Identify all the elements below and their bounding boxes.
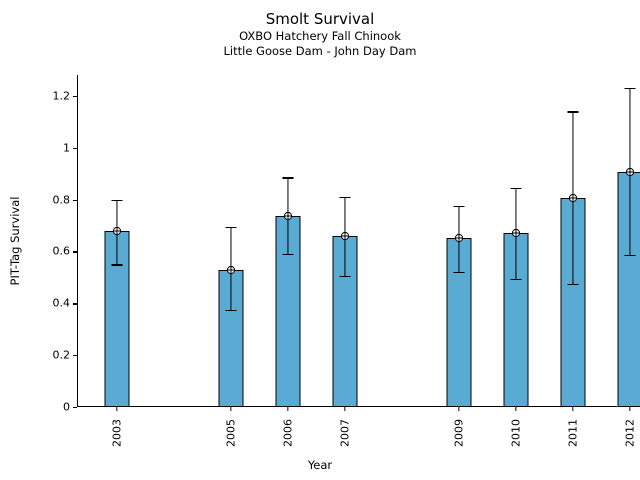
y-tick-mark (73, 148, 77, 149)
y-tick-label: 0.2 (53, 350, 71, 361)
data-point-marker-icon (113, 226, 122, 235)
data-point-marker-icon (626, 168, 635, 177)
error-bar-cap-upper (112, 200, 123, 201)
y-tick-label: 1 (63, 142, 70, 153)
data-point-marker-icon (227, 265, 236, 274)
x-tick-label: 2006 (283, 419, 294, 447)
y-tick-label: 0.6 (53, 246, 71, 257)
y-tick-label: 0.4 (53, 298, 71, 309)
chart-title: Smolt Survival (0, 10, 640, 29)
y-tick-label: 0 (63, 402, 70, 413)
x-tick-label: 2010 (511, 419, 522, 447)
chart-figure: Smolt Survival OXBO Hatchery Fall Chinoo… (0, 0, 640, 480)
plot-area: 00.20.40.60.811.2 2003200520062007200920… (77, 75, 617, 407)
y-tick-mark (73, 96, 77, 97)
chart-subtitle-line-1: OXBO Hatchery Fall Chinook (0, 29, 640, 44)
data-point-marker-icon (455, 234, 464, 243)
error-bar-cap-upper (511, 188, 522, 189)
x-tick-label: 2007 (340, 419, 351, 447)
error-bar-cap-upper (625, 88, 636, 89)
y-tick-label: 0.8 (53, 194, 71, 205)
x-tick-mark (287, 407, 288, 411)
y-axis-spine (77, 75, 78, 407)
error-bar-cap-lower (340, 276, 351, 277)
error-bar-cap-lower (454, 272, 465, 273)
y-tick-mark (73, 355, 77, 356)
x-axis-label: Year (0, 458, 640, 472)
x-tick-label: 2003 (112, 419, 123, 447)
x-tick-mark (458, 407, 459, 411)
x-tick-mark (572, 407, 573, 411)
x-tick-mark (230, 407, 231, 411)
data-point-marker-icon (569, 194, 578, 203)
data-point-marker-icon (284, 212, 293, 221)
y-tick-mark (73, 407, 77, 408)
y-tick-mark (73, 303, 77, 304)
error-bar-cap-upper (568, 111, 579, 112)
data-point-marker-icon (512, 229, 521, 238)
error-bar-cap-lower (283, 254, 294, 255)
x-tick-mark (344, 407, 345, 411)
data-point-marker-icon (341, 231, 350, 240)
error-bar-cap-upper (454, 206, 465, 207)
error-bar-cap-upper (226, 227, 237, 228)
x-tick-mark (515, 407, 516, 411)
x-tick-mark (629, 407, 630, 411)
x-tick-label: 2009 (454, 419, 465, 447)
error-bar-cap-lower (226, 310, 237, 311)
error-bar-cap-lower (625, 255, 636, 256)
error-bar-cap-upper (283, 177, 294, 178)
y-axis-label: PIT-Tag Survival (8, 197, 22, 286)
x-tick-label: 2005 (226, 419, 237, 447)
error-bar-cap-lower (112, 264, 123, 265)
error-bar-cap-lower (511, 279, 522, 280)
chart-subtitle-line-2: Little Goose Dam - John Day Dam (0, 44, 640, 59)
x-tick-mark (116, 407, 117, 411)
error-bar-cap-upper (340, 197, 351, 198)
y-tick-mark (73, 251, 77, 252)
x-tick-label: 2012 (625, 419, 636, 447)
title-block: Smolt Survival OXBO Hatchery Fall Chinoo… (0, 10, 640, 59)
x-tick-label: 2011 (568, 419, 579, 447)
error-bar-cap-lower (568, 284, 579, 285)
y-tick-label: 1.2 (53, 90, 71, 101)
y-tick-mark (73, 200, 77, 201)
